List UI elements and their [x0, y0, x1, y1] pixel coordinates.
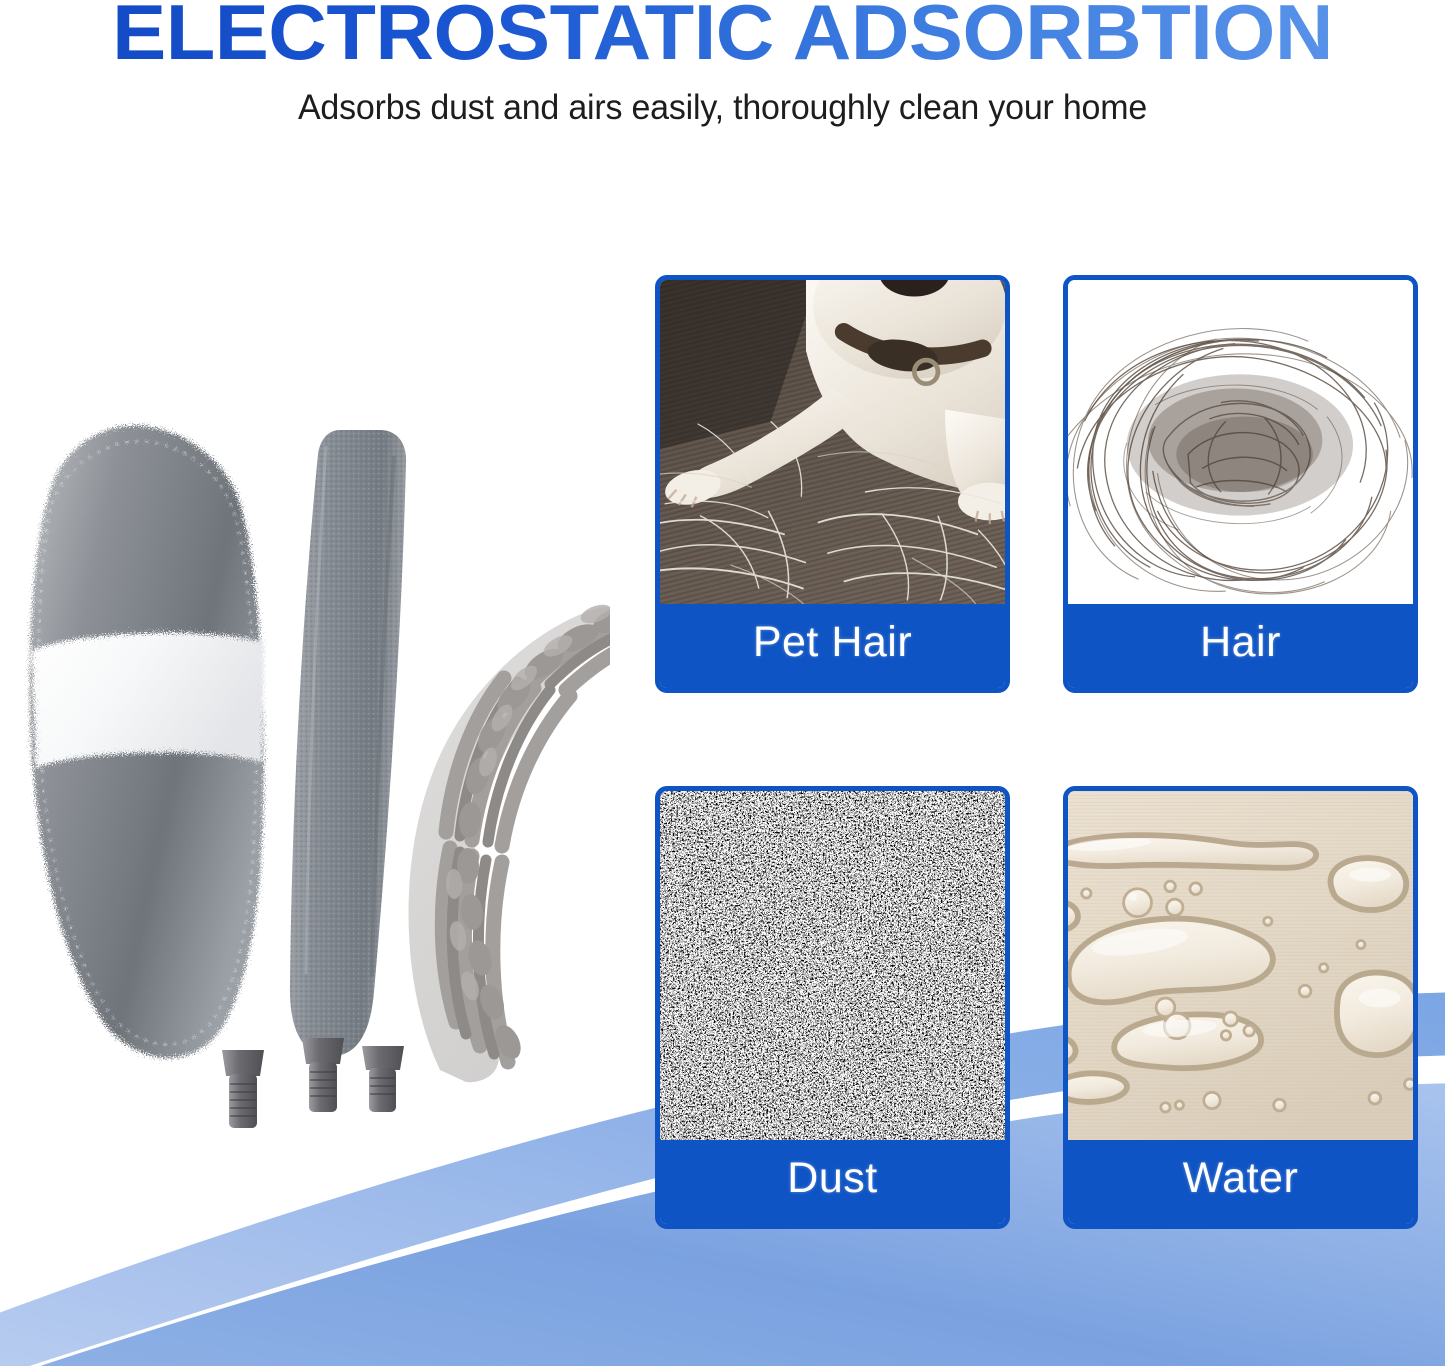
- connector-3: [362, 1046, 404, 1112]
- duster-head-fluffy: [30, 426, 264, 1058]
- feature-card-label-pet-hair: Pet Hair: [660, 604, 1005, 688]
- page-subtitle: Adsorbs dust and airs easily, thoroughly…: [22, 88, 1424, 128]
- feature-card-pet-hair[interactable]: Pet Hair: [655, 275, 1010, 693]
- feature-card-dust[interactable]: Dust: [655, 786, 1010, 1229]
- product-image-duster-heads: [10, 370, 610, 1130]
- connector-1: [222, 1050, 264, 1128]
- feature-card-hair[interactable]: Hair: [1063, 275, 1418, 693]
- tangled-human-hair-clump-photo: [1068, 280, 1413, 604]
- page-title: ELECTROSTATIC ADSORBTION: [0, 0, 1445, 70]
- feature-card-label-water: Water: [1068, 1140, 1413, 1224]
- duster-connector-stubs: [222, 1038, 404, 1128]
- black-dust-speckles-texture: [660, 791, 1005, 1140]
- feature-card-label-dust: Dust: [660, 1140, 1005, 1224]
- feature-card-label-hair: Hair: [1068, 604, 1413, 688]
- duster-head-noodle: [408, 601, 610, 1082]
- duster-head-flat-pad: [290, 430, 406, 1056]
- water-droplets-on-beige-surface-photo: [1068, 791, 1413, 1140]
- connector-2: [302, 1038, 344, 1112]
- header: ELECTROSTATIC ADSORBTION Adsorbs dust an…: [0, 0, 1445, 128]
- noodle-strands: [442, 601, 610, 1063]
- dog-on-carpet-with-shed-hair-photo: [660, 280, 1005, 604]
- feature-card-water[interactable]: Water: [1063, 786, 1418, 1229]
